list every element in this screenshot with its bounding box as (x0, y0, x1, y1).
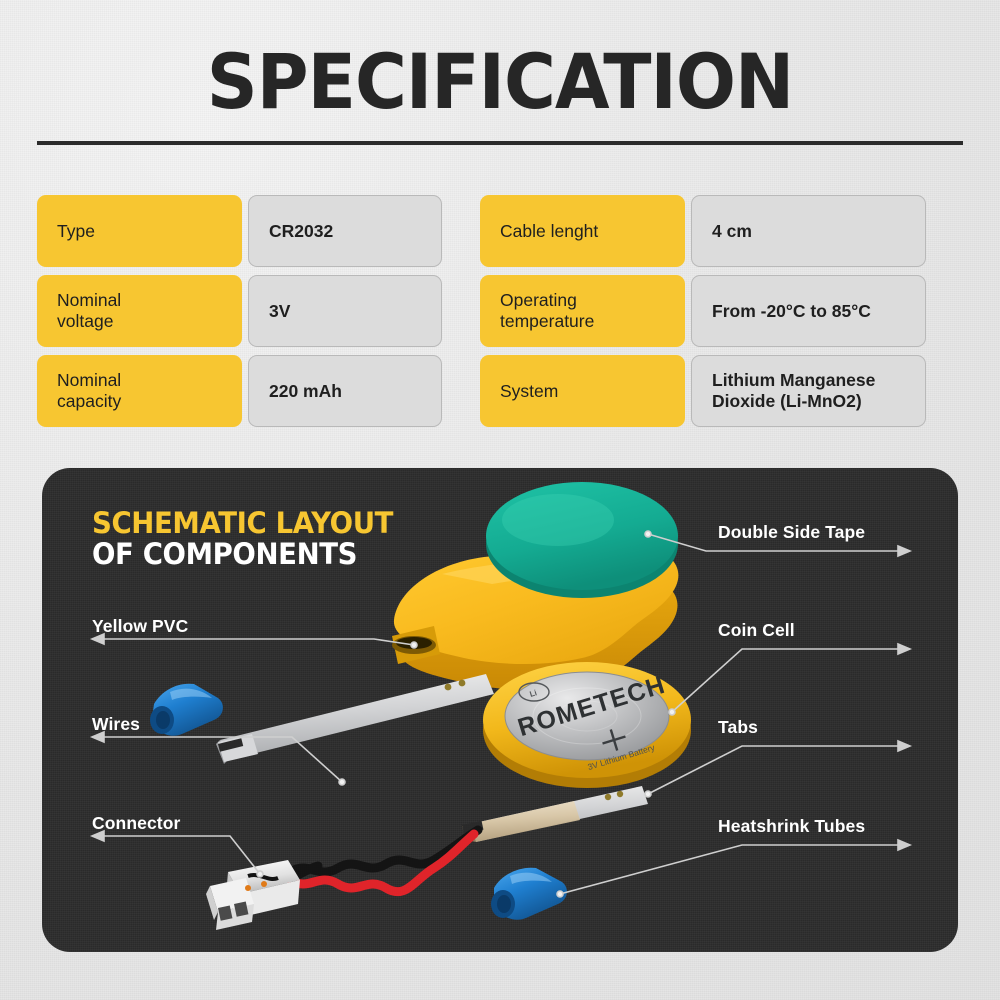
double-side-tape-art (486, 482, 678, 598)
title-container: SPECIFICATION (0, 44, 1000, 120)
spec-label-nominal-capacity: Nominalcapacity (37, 355, 242, 427)
callout-tabs: Tabs (718, 717, 758, 738)
spec-value-nominal-voltage: 3V (248, 275, 442, 347)
tab-upper-art (216, 674, 494, 764)
spec-value-cable-length: 4 cm (691, 195, 926, 267)
spec-label-type: Type (37, 195, 242, 267)
specification-table: Type CR2032 Cable lenght 4 cm Nominalvol… (37, 195, 963, 427)
callout-wires: Wires (92, 714, 140, 735)
title-divider (37, 141, 963, 145)
heatshrink-cap-lower-art (491, 868, 567, 920)
schematic-panel: SCHEMATIC LAYOUT OF COMPONENTS (42, 468, 958, 952)
spec-label-system: System (480, 355, 685, 427)
column-gap (442, 195, 480, 267)
spec-label-cable-length: Cable lenght (480, 195, 685, 267)
schematic-heading-line1: SCHEMATIC LAYOUT (92, 508, 393, 539)
column-gap (442, 275, 480, 347)
wires-art (290, 830, 478, 892)
callout-yellow-pvc: Yellow PVC (92, 616, 188, 637)
column-gap (442, 355, 480, 427)
callout-double-side-tape: Double Side Tape (718, 522, 865, 543)
coin-cell-art: Li ROMETECH 3V Lithium Battery (483, 662, 691, 788)
tab-lower-art (462, 786, 648, 842)
schematic-heading: SCHEMATIC LAYOUT OF COMPONENTS (92, 508, 409, 569)
heatshrink-cap-upper-art (150, 684, 223, 736)
callout-connector: Connector (92, 813, 180, 834)
callout-heatshrink-tubes: Heatshrink Tubes (718, 816, 865, 837)
spec-label-operating-temperature: Operatingtemperature (480, 275, 685, 347)
schematic-heading-line2: OF COMPONENTS (92, 539, 393, 570)
callout-coin-cell: Coin Cell (718, 620, 795, 641)
connector-art (206, 860, 300, 930)
page-title: SPECIFICATION (35, 44, 965, 120)
spec-label-nominal-voltage: Nominalvoltage (37, 275, 242, 347)
spec-value-type: CR2032 (248, 195, 442, 267)
spec-value-nominal-capacity: 220 mAh (248, 355, 442, 427)
spec-value-operating-temperature: From -20°C to 85°C (691, 275, 926, 347)
spec-value-system: Lithium ManganeseDioxide (Li-MnO2) (691, 355, 926, 427)
